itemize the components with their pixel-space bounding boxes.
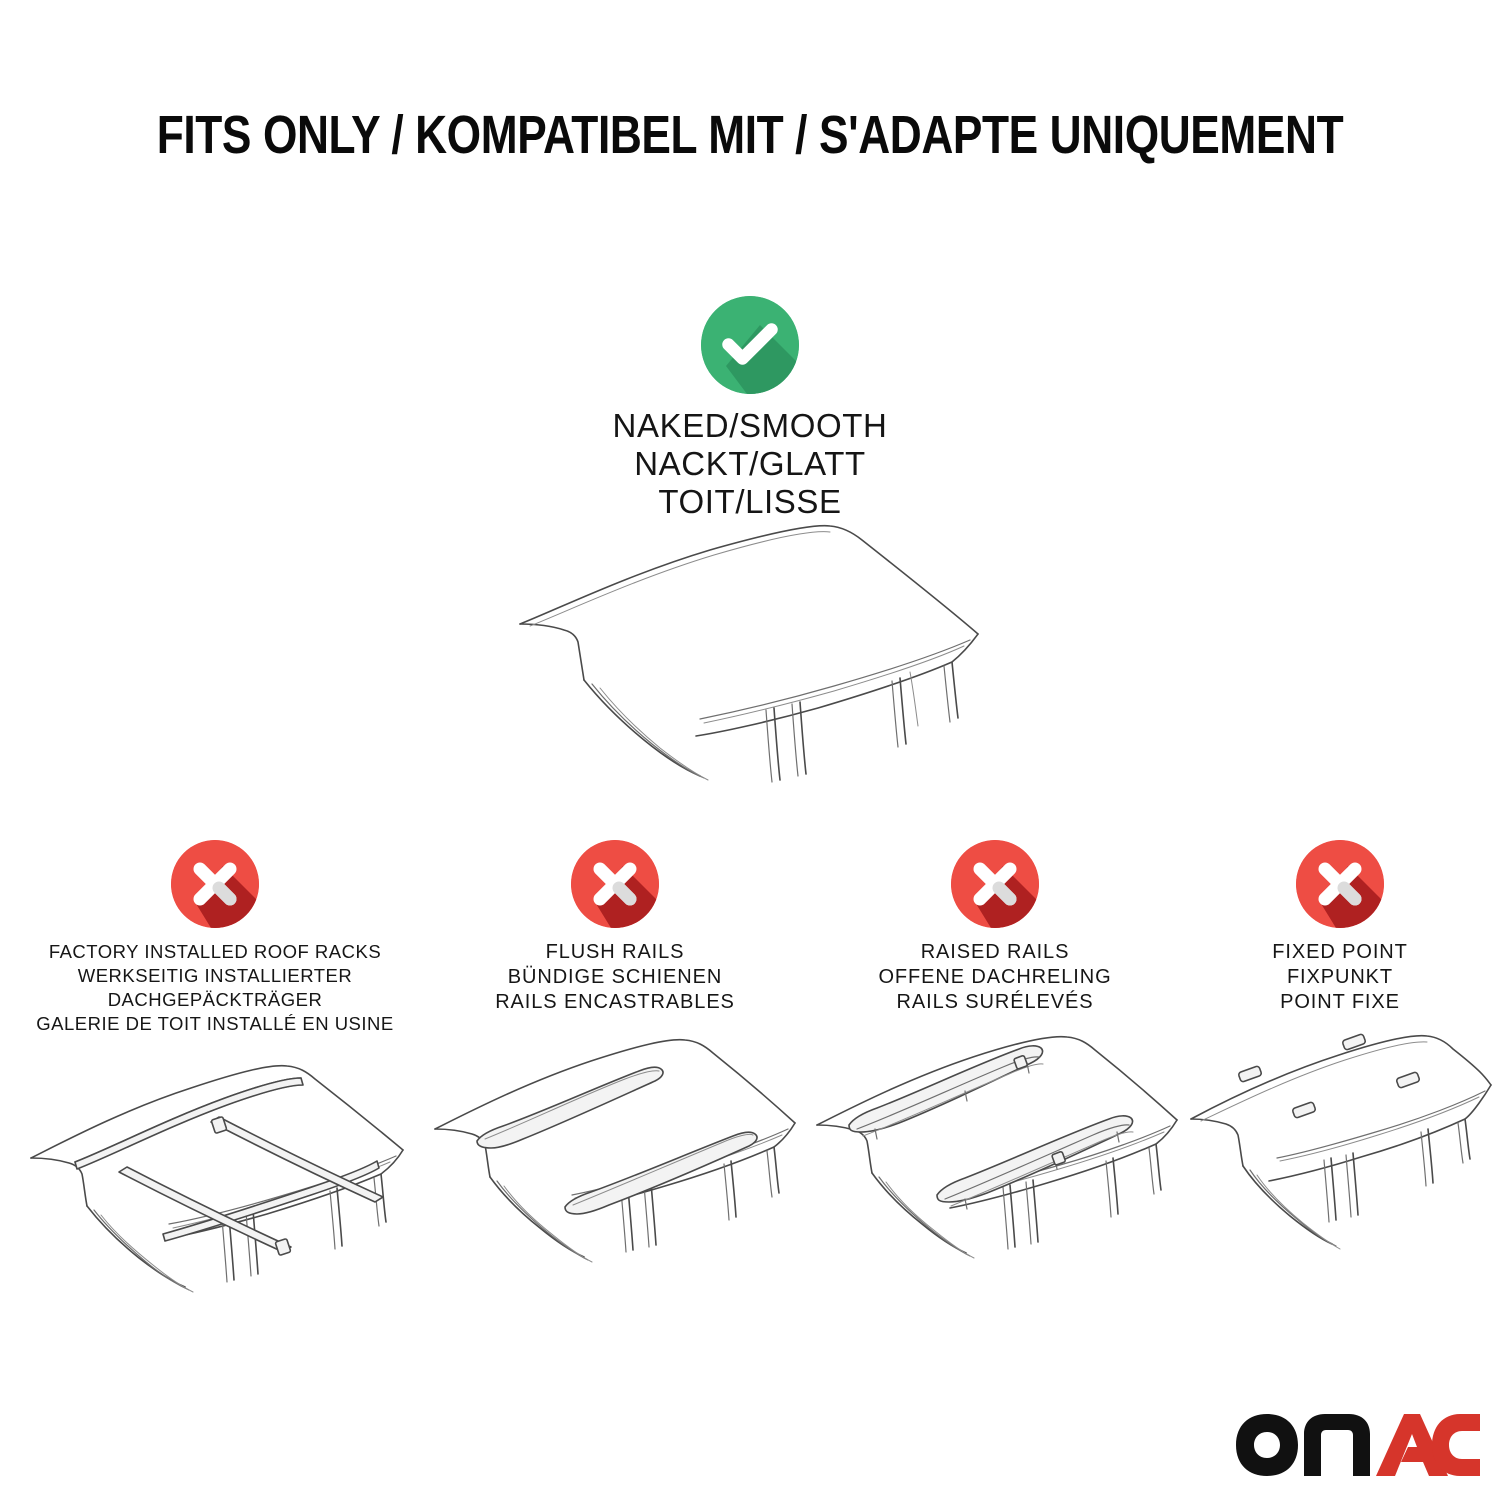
label-en: FIXED POINT <box>1185 940 1495 965</box>
compatible-section: NAKED/SMOOTH NACKT/GLATT TOIT/LISSE <box>0 296 1500 521</box>
label-de-line2: DACHGEPÄCKTRÄGER <box>15 988 415 1012</box>
compatible-label-de: NACKT/GLATT <box>0 445 1500 483</box>
incompatible-section: FACTORY INSTALLED ROOF RACKS WERKSEITIG … <box>0 840 1500 1500</box>
page-title: FITS ONLY / KOMPATIBEL MIT / S'ADAPTE UN… <box>135 104 1365 166</box>
logo-letter-c <box>1432 1414 1480 1476</box>
incompatible-item-flush-rails: FLUSH RAILS BÜNDIGE SCHIENEN RAILS ENCAS… <box>425 840 805 1279</box>
compatible-labels: NAKED/SMOOTH NACKT/GLATT TOIT/LISSE <box>0 407 1500 521</box>
x-circle-icon <box>951 840 1039 928</box>
fixed-point-illustration <box>1185 1029 1495 1279</box>
label-de: BÜNDIGE SCHIENEN <box>425 965 805 990</box>
flush-rails-illustration <box>425 1029 805 1279</box>
incompatible-labels: FACTORY INSTALLED ROOF RACKS WERKSEITIG … <box>15 940 415 1036</box>
logo-letter-m <box>1304 1414 1370 1476</box>
incompatible-item-raised-rails: RAISED RAILS OFFENE DACHRELING RAILS SUR… <box>805 840 1185 1279</box>
x-circle-icon <box>171 840 259 928</box>
label-de-line1: WERKSEITIG INSTALLIERTER <box>15 964 415 988</box>
naked-smooth-roof-illustration <box>500 512 1020 802</box>
label-de: FIXPUNKT <box>1185 965 1495 990</box>
x-circle-icon <box>571 840 659 928</box>
incompatible-labels: FIXED POINT FIXPUNKT POINT FIXE <box>1185 940 1495 1015</box>
logo-letter-o <box>1236 1414 1298 1476</box>
incompatible-labels: RAISED RAILS OFFENE DACHRELING RAILS SUR… <box>805 940 1185 1015</box>
check-circle-icon <box>701 296 799 394</box>
incompatible-item-factory-roof-racks: FACTORY INSTALLED ROOF RACKS WERKSEITIG … <box>15 840 415 1300</box>
label-fr: POINT FIXE <box>1185 990 1495 1015</box>
factory-roof-rack-illustration <box>15 1050 415 1300</box>
label-fr: RAILS SURÉLEVÉS <box>805 990 1185 1015</box>
label-en: FLUSH RAILS <box>425 940 805 965</box>
label-fr: RAILS ENCASTRABLES <box>425 990 805 1015</box>
omac-logo <box>1232 1412 1480 1478</box>
incompatible-labels: FLUSH RAILS BÜNDIGE SCHIENEN RAILS ENCAS… <box>425 940 805 1015</box>
label-en: FACTORY INSTALLED ROOF RACKS <box>15 940 415 964</box>
raised-rails-illustration <box>805 1029 1185 1279</box>
label-de: OFFENE DACHRELING <box>805 965 1185 990</box>
x-circle-icon <box>1296 840 1384 928</box>
label-fr: GALERIE DE TOIT INSTALLÉ EN USINE <box>15 1012 415 1036</box>
label-en: RAISED RAILS <box>805 940 1185 965</box>
compatible-label-en: NAKED/SMOOTH <box>0 407 1500 445</box>
incompatible-item-fixed-point: FIXED POINT FIXPUNKT POINT FIXE <box>1185 840 1495 1279</box>
